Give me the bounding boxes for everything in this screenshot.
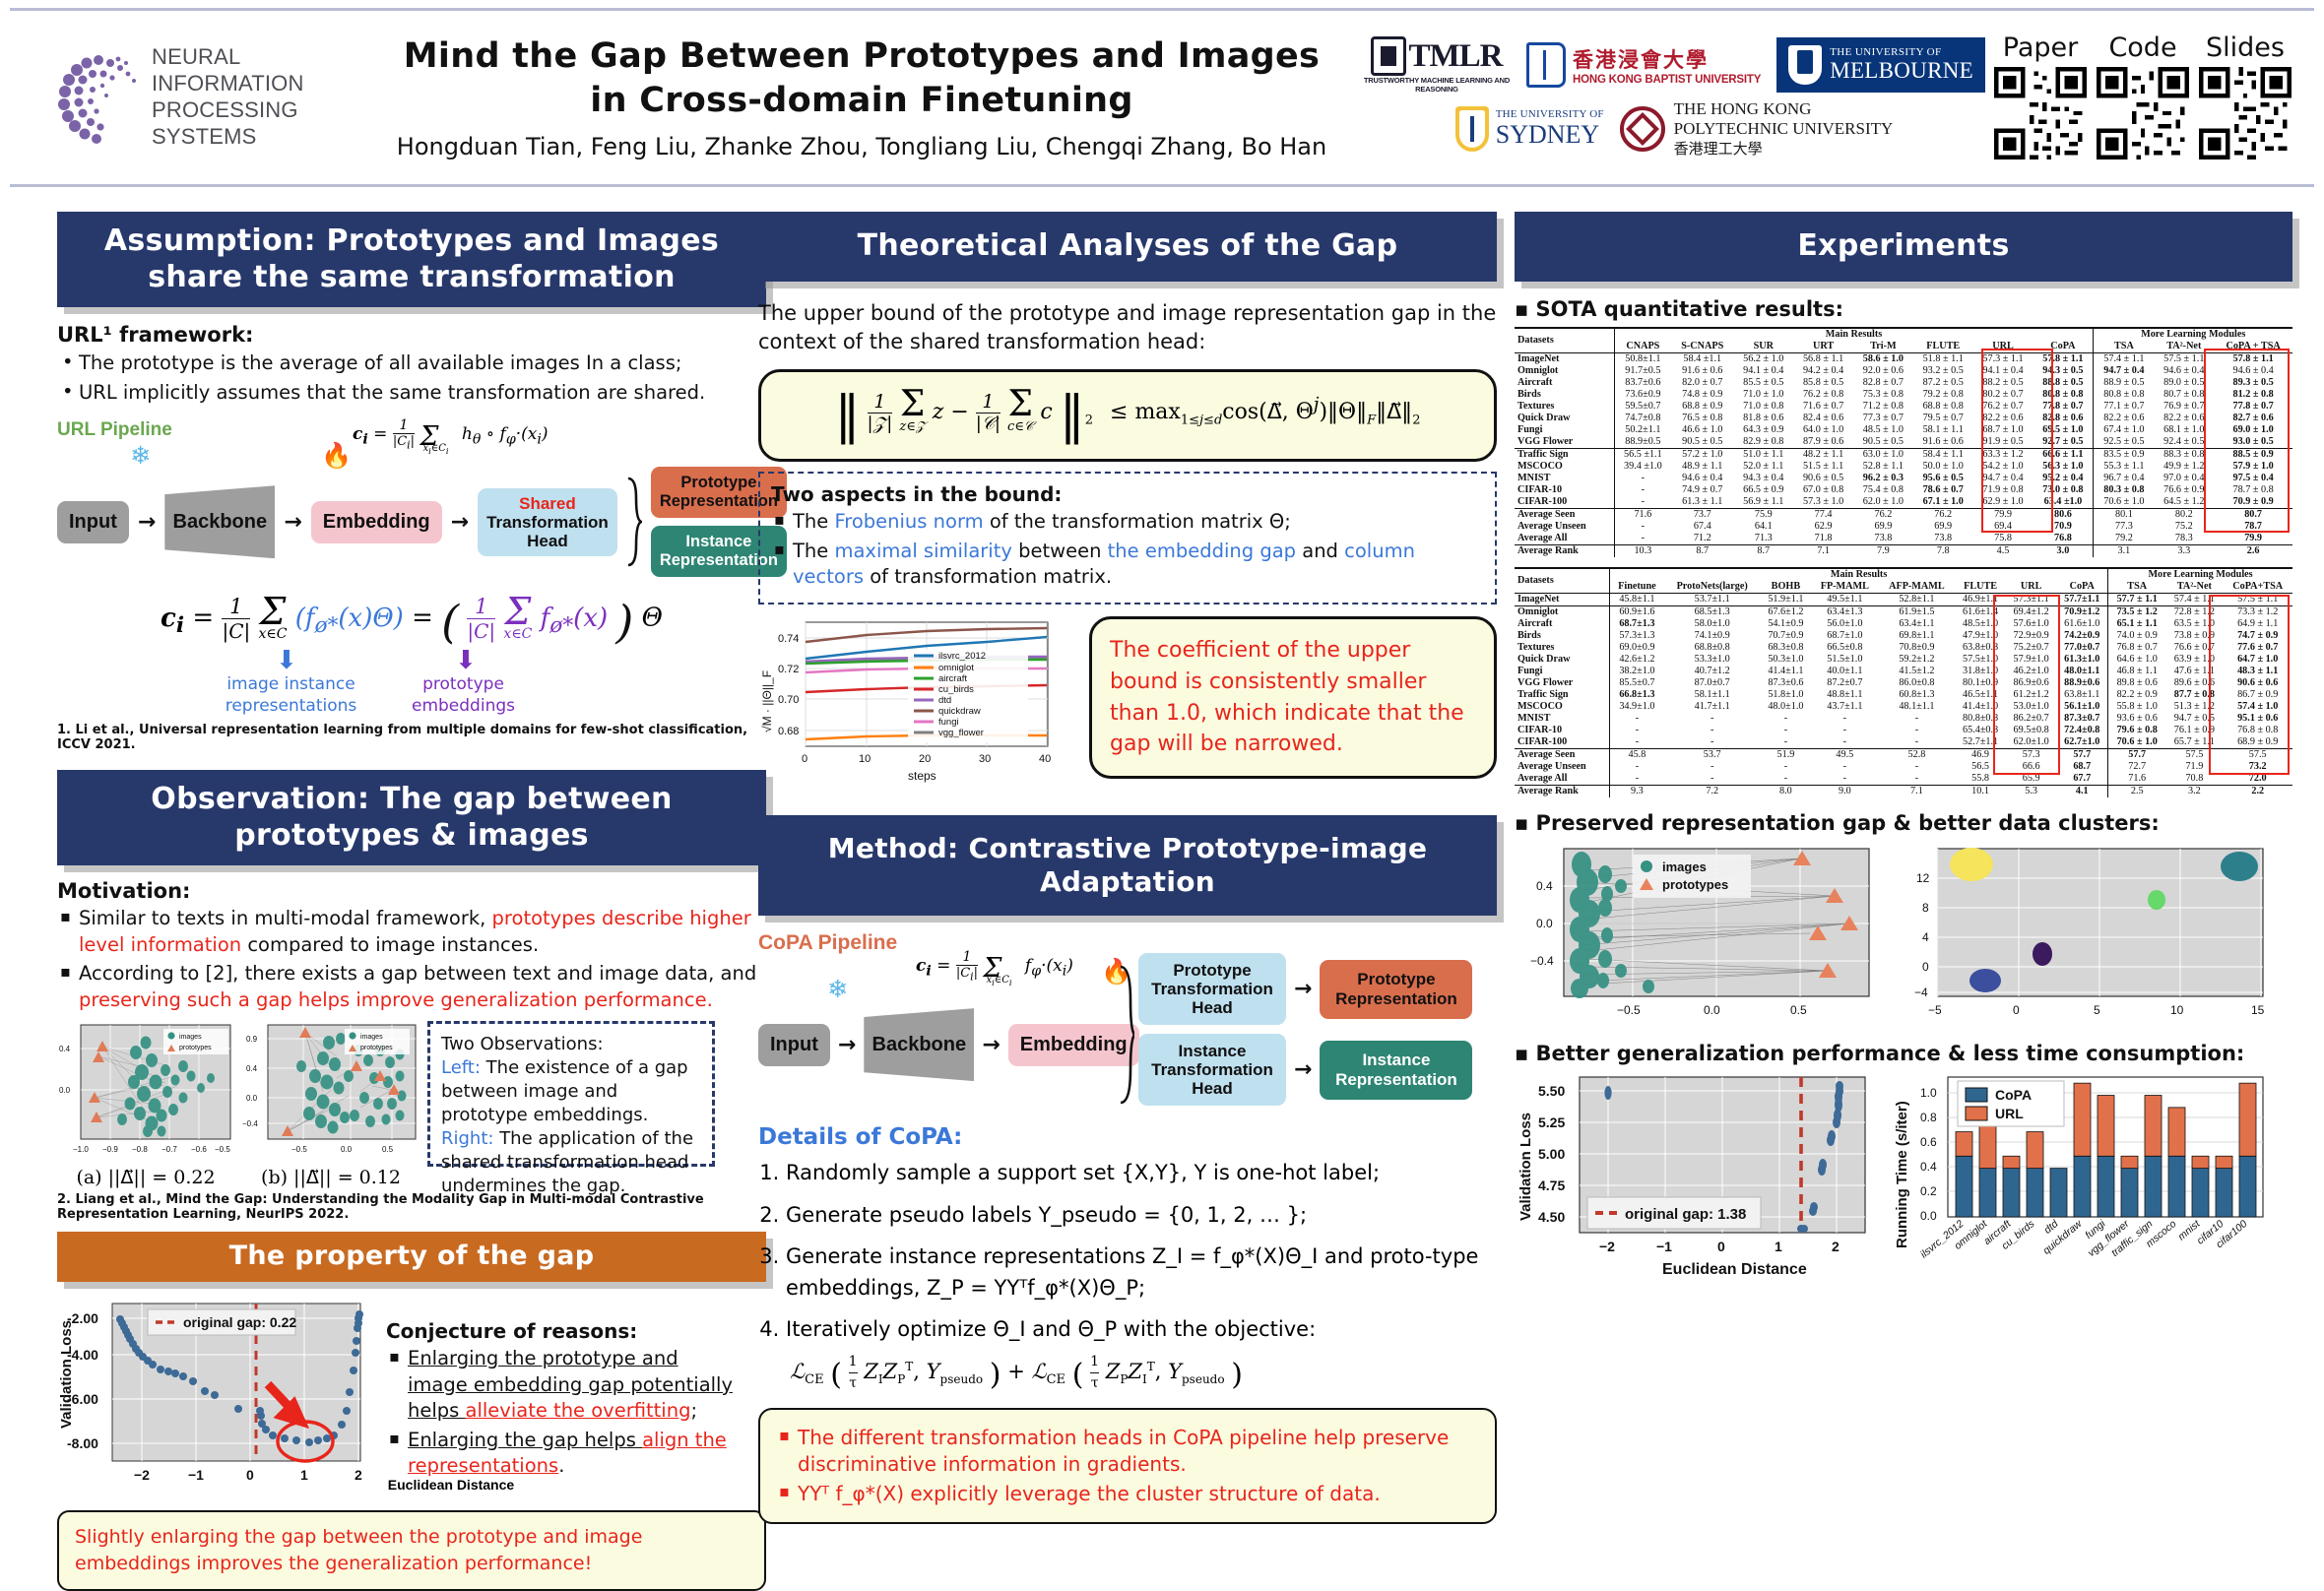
table-row-dataset: Average Rank — [1515, 544, 1614, 557]
table1-header-urt: URT — [1793, 341, 1853, 353]
svg-text:0.5: 0.5 — [382, 1145, 394, 1154]
table-cell: 73.0 ± 0.8 — [2033, 484, 2093, 496]
down-arrow-icon: ⬇ — [455, 646, 477, 675]
hkbu-name-cn: 香港浸會大學 — [1573, 44, 1761, 74]
table-cell: 92.5 ± 0.5 — [2094, 436, 2154, 449]
aspect-1-p2: between — [1012, 540, 1108, 562]
table-cell: 57.9±1.0 — [2006, 654, 2057, 666]
neurips-logo: NEURAL INFORMATION PROCESSING SYSTEMS — [10, 44, 355, 150]
table1-header-url: URL — [1973, 341, 2033, 353]
table-row-dataset: Average Rank — [1515, 785, 1610, 797]
gen-y-axis-label: Validation Loss — [1517, 1113, 1534, 1221]
table-cell: 48.2 ± 1.1 — [1793, 448, 1853, 461]
table-cell: 70.8±0.9 — [1879, 642, 1956, 654]
theory-intro: The upper bound of the prototype and ima… — [758, 299, 1497, 358]
table-cell: 63.4 ±1.0 — [2033, 496, 2093, 509]
svg-text:0: 0 — [1922, 960, 1929, 974]
table-cell: - — [1664, 761, 1761, 773]
table-cell: 94.7 ± 0.4 — [2094, 365, 2154, 377]
table-cell: 56.3 ± 1.0 — [2033, 461, 2093, 473]
table-cell: 78.6 ± 0.7 — [1913, 484, 1973, 496]
table-cell: 53.7 — [1664, 748, 1761, 761]
table1-header-copatsa: CoPA + TSA — [2214, 341, 2292, 353]
table-cell: 80.1 — [2094, 508, 2154, 521]
title-line-1: Mind the Gap Between Prototypes and Imag… — [364, 34, 1359, 79]
table-cell: 77.1 ± 0.7 — [2094, 401, 2154, 413]
motivation-heading: Motivation: — [57, 879, 766, 903]
table-cell: 70.6 ± 1.0 — [2108, 736, 2166, 749]
table2-group-main: Main Results — [1610, 568, 2108, 581]
table-cell: 51.9 — [1761, 748, 1812, 761]
sota-results-table-2: Datasets Main Results More Learning Modu… — [1515, 567, 2292, 797]
code-link[interactable]: Code — [2097, 32, 2189, 163]
theory-bound-box: ‖ 1 |𝒵| Σ z∈𝒵 z − 1 |𝒞| Σ c∈𝒞 — [758, 369, 1497, 462]
table-cell: - — [1610, 773, 1664, 786]
table-cell: 64.0 ± 1.0 — [1793, 424, 1853, 436]
table-cell: 76.2 ± 0.7 — [1973, 401, 2033, 413]
list-item: The prototype is the average of all avai… — [57, 350, 766, 377]
svg-text:-8.00: -8.00 — [67, 1435, 98, 1451]
table-cell: 72.7 — [2108, 761, 2166, 773]
bar-url — [1979, 1119, 1996, 1168]
table-cell: 87.2 ± 0.5 — [1913, 377, 1973, 389]
copa-pipeline-formula: ci = 1 |Ci| Σxi∈Ci fφ·(xi) — [916, 949, 1073, 987]
table-cell: 77.0±0.7 — [2056, 642, 2107, 654]
table-cell: 57.5 — [2223, 748, 2292, 761]
legend-dtd: dtd — [938, 695, 951, 706]
motivation-1-plain1: According to [2], there exists a gap bet… — [79, 962, 756, 985]
table-cell: 82.2 ± 0.6 — [2094, 413, 2154, 424]
svg-text:8: 8 — [1922, 901, 1929, 915]
table-cell: 94.1 ± 0.4 — [1733, 365, 1793, 377]
table-cell: 51.5 ± 1.1 — [1793, 461, 1853, 473]
table-cell: 39.4 ±1.0 — [1614, 461, 1671, 473]
table-row-dataset: Fungi — [1515, 424, 1614, 436]
table-cell: 71.8 — [1793, 533, 1853, 545]
runtime-y-axis-label: Running Time (s/iter) — [1894, 1101, 1910, 1248]
table-cell: 48.0±1.0 — [1761, 701, 1812, 713]
copa-pipeline-figure: CoPA Pipeline ci = 1 |Ci| Σxi∈Ci fφ·(xi)… — [758, 931, 1497, 1118]
legend-omniglot: omniglot — [938, 663, 974, 673]
table-cell: 94.3 ± 0.4 — [1733, 473, 1793, 484]
table-cell: 58.1 ± 1.1 — [1913, 424, 1973, 436]
conjecture-heading: Conjecture of reasons: — [386, 1319, 741, 1343]
slides-link[interactable]: Slides — [2199, 32, 2292, 163]
table-cell: 92.4 ± 0.5 — [2154, 436, 2214, 449]
table-cell: 57.7 — [2108, 748, 2166, 761]
table-cell: 83.7±0.6 — [1614, 377, 1671, 389]
book-icon — [1526, 42, 1566, 88]
url-framework-block: URL¹ framework: The prototype is the ave… — [57, 323, 766, 406]
affiliation-logos: TMLR TRUSTWORTHY MACHINE LEARNING AND RE… — [1359, 36, 1989, 158]
neurips-wordmark: NEURAL INFORMATION PROCESSING SYSTEMS — [152, 44, 355, 150]
legend-vgg-flower: vgg_flower — [938, 728, 984, 738]
table-cell: 76.2 — [1853, 508, 1913, 521]
table-cell: 57.7 ± 1.1 — [2108, 593, 2166, 605]
running-time-bar-chart: Running Time (s/iter) CoPA URL 1.00.80.6… — [1893, 1071, 2277, 1283]
table-cell: 61.3±1.0 — [2056, 654, 2107, 666]
generalization-scatter-plot: Validation Loss — [1515, 1071, 1879, 1283]
observation-right-note: Right: The application of the shared tra… — [441, 1127, 701, 1198]
table-cell: 79.2 ± 0.8 — [1913, 389, 1973, 401]
title-block: Mind the Gap Between Prototypes and Imag… — [355, 34, 1359, 160]
table-row: Textures59.5±0.768.8 ± 0.971.0 ± 0.871.6… — [1515, 401, 2292, 413]
gap-preserved-plot: images prototypes 0.40.0−0.4 −0.50.00.5 — [1515, 843, 1879, 1030]
table-cell: 62.7±1.0 — [2056, 736, 2107, 749]
table-cell: 73.8 — [1913, 533, 1973, 545]
table-cell: 48.8±1.1 — [1811, 689, 1878, 701]
table-cell: 72.0 — [2223, 773, 2292, 786]
table-cell: 55.8 — [1955, 773, 2006, 786]
table-cell: 76.2 ± 0.8 — [1793, 389, 1853, 401]
bar-copa — [1979, 1168, 1996, 1216]
url-framework-heading: URL¹ framework: — [57, 323, 766, 347]
table-row-dataset: MSCOCO — [1515, 461, 1614, 473]
table-cell: 48.0±1.1 — [2056, 666, 2107, 677]
theory-bound-formula: ‖ 1 |𝒵| Σ z∈𝒵 z − 1 |𝒞| Σ c∈𝒞 — [777, 386, 1478, 445]
url-pipeline-nodes: Input → Backbone → Embedding → Shared Tr… — [57, 467, 787, 577]
copa-proto-branch: Prototype Transformation Head → Prototyp… — [1138, 953, 1472, 1025]
table-row: Aircraft83.7±0.682.0 ± 0.785.5 ± 0.585.8… — [1515, 377, 2292, 389]
table-cell: 56.5 ±1.1 — [1614, 448, 1671, 461]
observation-a-caption: (a) ||Δ⃗|| = 0.22 — [57, 1167, 234, 1188]
table-cell: 57.5 ± 1.1 — [2154, 352, 2214, 365]
table-row-dataset: Omniglot — [1515, 605, 1610, 618]
table-row-dataset: Quick Draw — [1515, 413, 1614, 424]
table-cell: - — [1614, 496, 1671, 509]
svg-text:−0.5: −0.5 — [215, 1145, 230, 1154]
paper-link[interactable]: Paper — [1994, 32, 2087, 163]
aspect-1-p1: The — [793, 540, 834, 562]
table-cell: 56.9 ± 1.1 — [1733, 496, 1793, 509]
svg-text:15: 15 — [2251, 1003, 2265, 1017]
table-cell: 95.2 ± 0.4 — [2033, 473, 2093, 484]
table-cell: 75.8 — [1973, 533, 2033, 545]
generalization-legend-label: original gap: 1.38 — [1625, 1206, 1746, 1223]
table-cell: 76.8 ± 0.7 — [2108, 642, 2166, 654]
polyu-line-3: 香港理工大學 — [1674, 138, 1894, 159]
svg-text:0.8: 0.8 — [1920, 1111, 1937, 1124]
legend-images-b: images — [360, 1034, 383, 1041]
table-cell: 87.3±0.7 — [2056, 713, 2107, 725]
title-line-2: in Cross-domain Finetuning — [364, 79, 1359, 123]
table-row: Average Seen45.853.751.949.552.846.957.3… — [1515, 748, 2292, 761]
table-cell: 90.5 ± 0.5 — [1853, 436, 1913, 449]
table-cell: 76.5 ± 0.8 — [1671, 413, 1733, 424]
table-cell: 80.8±0.8 — [1955, 713, 2006, 725]
aspect-1-p4: of transformation matrix. — [864, 565, 1112, 588]
crest-icon — [1788, 45, 1822, 85]
table-cell: 51.5±1.0 — [1811, 654, 1878, 666]
conjecture-1-tail: . — [558, 1454, 564, 1477]
svg-text:40: 40 — [1039, 753, 1051, 765]
table-cell: 69.8±1.1 — [1879, 630, 1956, 642]
table-cell: 82.9 ± 0.8 — [1733, 436, 1793, 449]
table-cell: 62.9 — [1793, 521, 1853, 533]
theory-callout-text: The coefficient of the upper bound is co… — [1110, 635, 1476, 761]
table-cell: 67.6±1.2 — [1761, 605, 1812, 618]
table1-header-flute: FLUTE — [1913, 341, 1973, 353]
table-row: CIFAR-10-74.9 ± 0.766.5 ± 0.967.0 ± 0.87… — [1515, 484, 2292, 496]
table-cell: 82.7 ± 0.6 — [2214, 413, 2292, 424]
table-cell: 77.8 ± 0.7 — [2033, 401, 2093, 413]
table-cell: 3.3 — [2154, 544, 2214, 557]
table-cell: 56.8 ± 1.1 — [1793, 352, 1853, 365]
table-cell: - — [1614, 533, 1671, 545]
table-row: Average Unseen-----56.566.668.772.771.97… — [1515, 761, 2292, 773]
svg-text:5.25: 5.25 — [1538, 1114, 1565, 1130]
slides-qr-code-icon[interactable] — [2199, 67, 2292, 159]
table-row: Birds57.3±1.374.1±0.970.7±0.968.7±1.069.… — [1515, 630, 2292, 642]
table-row: Average Rank10.38.78.77.17.97.84.53.03.1… — [1515, 544, 2292, 557]
copa-objective-formula: ℒCE ( 1 τ ZIZPT, Ypseudo ) + ℒCE ( 1 — [790, 1352, 1497, 1397]
table-cell: 87.3±0.6 — [1761, 677, 1812, 689]
table-cell: 82.2 ± 0.6 — [1973, 413, 2033, 424]
poster-header: NEURAL INFORMATION PROCESSING SYSTEMS Mi… — [10, 8, 2314, 187]
node-instance-representation: Instance Representation — [1320, 1041, 1472, 1100]
table-cell: 68.7±1.3 — [1610, 618, 1664, 630]
table-cell: 57.5 — [2165, 748, 2223, 761]
table-cell: 81.8 ± 0.6 — [1733, 413, 1793, 424]
table2-header-tsa: TSA — [2108, 581, 2166, 594]
table-cell: 63.8±1.1 — [2056, 689, 2107, 701]
theory-chart-row: √M · ||Θ||_F — [758, 616, 1497, 794]
table-cell: 42.6±1.2 — [1610, 654, 1664, 666]
table-cell: 53.0±1.0 — [2006, 701, 2057, 713]
table-cell: 61.6±1.0 — [2056, 618, 2107, 630]
list-item: Similar to texts in multi-modal framewor… — [57, 906, 766, 958]
table-cell: - — [1610, 736, 1664, 749]
clusters-heading-text: Preserved representation gap & better da… — [1536, 811, 2160, 835]
motivation-list: Similar to texts in multi-modal framewor… — [57, 906, 766, 1013]
svg-text:0.74: 0.74 — [778, 633, 799, 645]
table-cell: 80.1±0.9 — [1955, 677, 2006, 689]
table-row-dataset: Aircraft — [1515, 618, 1610, 630]
table-cell: 49.5 — [1811, 748, 1878, 761]
table-cell: 80.7 ± 0.8 — [2154, 389, 2214, 401]
svg-text:0.4: 0.4 — [246, 1064, 258, 1073]
copa-details-block: Details of CoPA: Randomly sample a suppo… — [758, 1124, 1497, 1397]
table-cell: - — [1614, 473, 1671, 484]
table-cell: 82.4 ± 0.6 — [1793, 413, 1853, 424]
table-cell: 74.8 ± 0.9 — [1671, 389, 1733, 401]
table-cell: - — [1610, 725, 1664, 736]
shield-icon — [1455, 106, 1489, 152]
legend-aircraft: aircraft — [938, 673, 967, 684]
aspect-1-b2: the embedding gap — [1108, 540, 1296, 562]
table-row: Omniglot91.7±0.591.6 ± 0.694.1 ± 0.494.2… — [1515, 365, 2292, 377]
table-cell: 91.6 ± 0.6 — [1671, 365, 1733, 377]
table-cell: 69.4 — [1973, 521, 2033, 533]
legend-prototypes-gap: prototypes — [1662, 877, 1728, 892]
table-cell: 64.9 ± 1.1 — [2223, 618, 2292, 630]
table-row-dataset: Aircraft — [1515, 377, 1614, 389]
bar-copa — [2121, 1168, 2138, 1216]
table-cell: 69.9 — [1853, 521, 1913, 533]
table-cell: 64.5 ± 1.2 — [2154, 496, 2214, 509]
table-cell: 65.4±0.8 — [1955, 725, 2006, 736]
table-cell: 73.8 — [1853, 533, 1913, 545]
table-cell: 55.3 ± 1.1 — [2094, 461, 2154, 473]
code-qr-code-icon[interactable] — [2097, 67, 2189, 159]
affiliation-logos-row-2: THE UNIVERSITY OF SYDNEY THE HONG KONG P… — [1455, 99, 1894, 158]
bar-url — [2192, 1156, 2209, 1168]
hkbu-logo: 香港浸會大學 HONG KONG BAPTIST UNIVERSITY — [1526, 42, 1761, 88]
table-cell: 56.1±1.0 — [2056, 701, 2107, 713]
table-cell: - — [1614, 521, 1671, 533]
svg-text:0.5: 0.5 — [1790, 1003, 1807, 1017]
assumption-banner-line-1: Assumption: Prototypes and Images — [67, 223, 756, 260]
table-cell: 63.4±1.1 — [1879, 618, 1956, 630]
table-row-dataset: Fungi — [1515, 666, 1610, 677]
node-prototype-representation: Prototype Representation — [1320, 960, 1472, 1019]
table-cell: 87.7 ± 0.8 — [2165, 689, 2223, 701]
table-cell: 74.1±0.9 — [1664, 630, 1761, 642]
table-cell: 79.2 — [2094, 533, 2154, 545]
table-cell: 77.4 — [1793, 508, 1853, 521]
assumption-main-formula: ci = 1 |C| Σ x∈C (fø*(x)Θ) = ( 1 |C| Σ x… — [57, 595, 766, 721]
legend-prototypes-b: prototypes — [360, 1045, 393, 1051]
table-row-dataset: CIFAR-10 — [1515, 484, 1614, 496]
table-row-dataset: MNIST — [1515, 473, 1614, 484]
table-cell: 97.0 ± 0.4 — [2154, 473, 2214, 484]
table-cell: 69.0±0.9 — [1610, 642, 1664, 654]
paper-qr-code-icon[interactable] — [1994, 67, 2087, 159]
table-cell: 75.2±0.7 — [2006, 642, 2057, 654]
arrow-icon: → — [284, 510, 301, 535]
observation-figure-b: images prototypes 0.90.4 0.0−0.4 −0.50.0… — [242, 1021, 420, 1188]
table-cell: 60.9±1.6 — [1610, 605, 1664, 618]
table-cell: 5.3 — [2006, 785, 2057, 797]
table-cell: 94.1 ± 0.4 — [1973, 365, 2033, 377]
node-backbone-label: Backbone — [173, 511, 268, 534]
observation-b-caption: (b) ||Δ⃗|| = 0.12 — [242, 1167, 420, 1188]
table-row: Quick Draw42.6±1.253.3±1.050.3±1.051.5±1… — [1515, 654, 2292, 666]
table-cell: 46.2±1.0 — [2006, 666, 2057, 677]
table-cell: 57.6±1.0 — [2006, 618, 2057, 630]
table-cell: 94.2 ± 0.4 — [1793, 365, 1853, 377]
table-cell: - — [1811, 736, 1878, 749]
property-legend-label: original gap: 0.22 — [183, 1314, 296, 1330]
table-cell: 66.6 — [2006, 761, 2057, 773]
table-cell: 56.5 — [1955, 761, 2006, 773]
observation-right-key: Right: — [441, 1128, 493, 1149]
table-cell: 73.2 — [2223, 761, 2292, 773]
table-cell: 48.3 ± 1.1 — [2223, 666, 2292, 677]
code-link-label: Code — [2097, 32, 2189, 63]
observation-figures-row: images prototypes 0.40.0 −1.0−0.9−0.8 −0… — [57, 1021, 766, 1188]
table-cell: 34.9±1.0 — [1610, 701, 1664, 713]
table-cell: 59.5±0.7 — [1614, 401, 1671, 413]
table2-header-fpmaml: FP-MAML — [1811, 581, 1878, 594]
table2-header-url: URL — [2006, 581, 2057, 594]
sydney-line-1: THE UNIVERSITY OF — [1496, 108, 1604, 120]
two-aspects-title: Two aspects in the bound: — [771, 482, 1484, 506]
table-cell: 3.1 — [2094, 544, 2154, 557]
svg-text:−2: −2 — [134, 1467, 150, 1483]
table-cell: 94.6 ± 0.4 — [2154, 365, 2214, 377]
table-row-dataset: Omniglot — [1515, 365, 1614, 377]
table-cell: 46.6 ± 1.0 — [1671, 424, 1733, 436]
table-cell: 78.7 — [2214, 521, 2292, 533]
table-cell: 90.6 ± 0.5 — [1793, 473, 1853, 484]
table2-body: ImageNet45.8±1.153.7±1.151.9±1.149.5±1.1… — [1515, 593, 2292, 797]
table-cell: 82.2 ± 0.6 — [2154, 413, 2214, 424]
table-cell: 94.6 ± 0.4 — [2214, 365, 2292, 377]
observation-citation: 2. Liang et al., Mind the Gap: Understan… — [57, 1192, 766, 1222]
motivation-1-red: preserving such a gap helps improve gene… — [79, 988, 713, 1011]
table-row: Average Seen71.673.775.977.476.276.279.9… — [1515, 508, 2292, 521]
list-item: The Frobenius norm of the transformation… — [771, 509, 1484, 536]
table-cell: 41.7±1.1 — [1664, 701, 1761, 713]
table1-header-ta2net: TA²-Net — [2154, 341, 2214, 353]
bar-copa — [2216, 1168, 2232, 1216]
table-row: ImageNet50.8±1.158.4 ±1.156.2 ± 1.056.8 … — [1515, 352, 2292, 365]
table-cell: 58.4 ± 1.1 — [1913, 448, 1973, 461]
bar-copa — [2074, 1156, 2091, 1217]
theory-x-axis-label: steps — [908, 769, 936, 783]
svg-text:-6.00: -6.00 — [67, 1391, 98, 1407]
table-row-dataset: Birds — [1515, 389, 1614, 401]
table-cell: 63.0 ± 1.0 — [1853, 448, 1913, 461]
table-row: VGG Flower88.9±0.590.5 ± 0.582.9 ± 0.887… — [1515, 436, 2292, 449]
table-cell: - — [1761, 773, 1812, 786]
theory-callout-box: The coefficient of the upper bound is co… — [1089, 616, 1497, 780]
table-cell: 76.9 ± 0.7 — [2154, 401, 2214, 413]
table-cell: 57.3 — [2006, 748, 2057, 761]
table-cell: 87.0±0.7 — [1664, 677, 1761, 689]
table-cell: 48.5±1.0 — [1955, 618, 2006, 630]
table-cell: 57.9 ± 1.0 — [2214, 461, 2292, 473]
url-pipeline-figure: URL Pipeline ci = 1 |Ci| Σxi∈Ci hθ ∘ fφ·… — [57, 419, 766, 577]
table-cell: 68.5±1.3 — [1664, 605, 1761, 618]
table-cell: 86.9±0.6 — [2006, 677, 2057, 689]
paper-link-label: Paper — [1994, 32, 2087, 63]
table-cell: 79.6 ± 0.8 — [2108, 725, 2166, 736]
bar-url — [2003, 1156, 2020, 1168]
table-row-dataset: Average Unseen — [1515, 521, 1614, 533]
table-cell: 76.8 ± 0.8 — [2223, 725, 2292, 736]
node-backbone: Backbone — [164, 485, 275, 558]
table-cell: 31.8±1.0 — [1955, 666, 2006, 677]
table-cell: 57.7 — [2056, 748, 2107, 761]
svg-text:0.2: 0.2 — [1920, 1184, 1937, 1198]
list-item: Enlarging the prototype and image embedd… — [386, 1346, 741, 1425]
table-cell: 73.5 ± 1.2 — [2108, 605, 2166, 618]
observation-left-key: Left: — [441, 1057, 481, 1078]
table-cell: 66.5±0.8 — [1811, 642, 1878, 654]
table-cell: 52.8±1.1 — [1879, 593, 1956, 605]
table-cell: 80.2 — [2154, 508, 2214, 521]
poster-root: NEURAL INFORMATION PROCESSING SYSTEMS Mi… — [0, 0, 2324, 1550]
table-cell: 85.5±0.7 — [1610, 677, 1664, 689]
svg-text:−1: −1 — [188, 1467, 204, 1483]
table-cell: 68.3±0.8 — [1761, 642, 1812, 654]
polyu-logo: THE HONG KONG POLYTECHNIC UNIVERSITY 香港理… — [1620, 99, 1894, 158]
column-right: Experiments ▪ SOTA quantitative results:… — [1515, 212, 2292, 1283]
table-cell: 68.8 ± 0.8 — [1913, 401, 1973, 413]
table1-group-main: Main Results — [1614, 328, 2094, 341]
legend-images-a: images — [179, 1034, 202, 1041]
copa-step-4-text: Iteratively optimize Θ_I and Θ_P with th… — [786, 1317, 1316, 1341]
table-cell: 58.4 ±1.1 — [1671, 352, 1733, 365]
motivation-0-plain2: compared to image instances. — [241, 933, 539, 956]
table1-header-copa: CoPA — [2033, 341, 2093, 353]
tmlr-chip-icon — [1371, 36, 1406, 76]
table-cell: 64.1 — [1733, 521, 1793, 533]
table-cell: 76.1 ± 0.9 — [2165, 725, 2223, 736]
table-cell: 2.5 — [2108, 785, 2166, 797]
